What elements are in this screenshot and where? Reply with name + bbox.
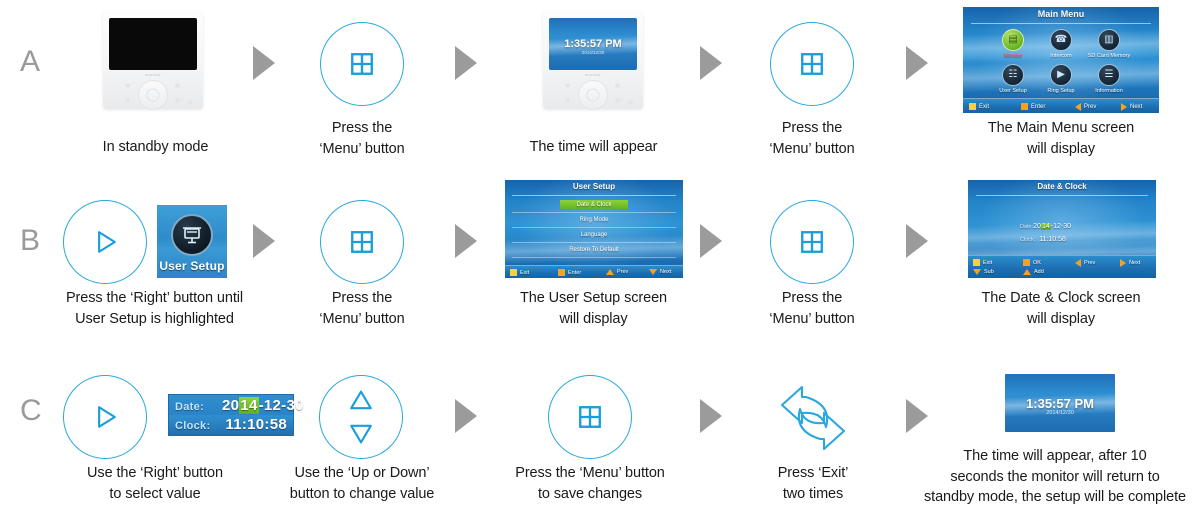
caption-c3: Press the ‘Menu’ button to save changes — [490, 463, 690, 504]
user-setup-row-0-label: Date & Clock — [560, 200, 629, 210]
date-clock-clock-value: 11:10:58 — [1039, 236, 1066, 243]
device-key-1 — [125, 83, 130, 88]
menu-button-a[interactable] — [320, 22, 404, 106]
right-button-b[interactable] — [63, 200, 147, 284]
prev-key-icon — [606, 269, 614, 275]
user-setup-row-date-clock[interactable]: Date & Clock — [512, 198, 676, 213]
user-setup-tile-label: User Setup — [157, 259, 227, 273]
date-clock-clock-row[interactable]: Clock: 11:10:58 — [1020, 236, 1066, 243]
footer-enter[interactable]: Enter — [1021, 103, 1045, 110]
caption-b1-line1: Press the ‘Right’ button until — [47, 288, 262, 309]
user-setup-tile[interactable]: User Setup — [157, 205, 227, 278]
panel-date-row[interactable]: Date:2014-12-30 — [175, 397, 287, 414]
user-setup-title: User Setup — [505, 182, 683, 191]
caption-a4: Press the ‘Menu’ button — [720, 118, 904, 159]
caption-c4-line2: two times — [728, 484, 898, 505]
up-down-button-c[interactable] — [319, 375, 403, 459]
next-key-icon — [1121, 103, 1127, 111]
caption-c5-line3: standby mode, the setup will be complete — [906, 487, 1204, 508]
device-monitor-standby: monitor — [103, 12, 203, 109]
exit-button-c[interactable] — [770, 375, 856, 461]
ring-setup-icon: ▶ — [1050, 64, 1072, 86]
date-clock-date-suffix: -12-30 — [1051, 223, 1071, 230]
caption-c2-line2: button to change value — [272, 484, 452, 505]
user-setup-footer: Exit Enter Prev Next — [505, 265, 683, 278]
caption-a5: The Main Menu screen will display — [960, 118, 1162, 159]
panel-date-label: Date: — [175, 401, 217, 413]
footer-next-label: Next — [1130, 104, 1142, 110]
right-button-c[interactable] — [63, 375, 147, 459]
user-setup-row-restore-default[interactable]: Restore To Default — [512, 243, 676, 258]
caption-a5-line1: The Main Menu screen — [960, 118, 1162, 139]
panel-clock-label: Clock: — [175, 420, 217, 432]
date-clock-clock-label: Clock: — [1020, 237, 1035, 243]
caption-b3: The User Setup screen will display — [496, 288, 691, 329]
ok-key-icon — [1023, 259, 1030, 266]
footer-next[interactable]: Next — [1121, 103, 1142, 111]
device-dpad-2 — [578, 80, 608, 110]
user-setup-icon: ☷ — [1002, 64, 1024, 86]
device-dpad-center — [147, 89, 160, 102]
user-setup-row-language[interactable]: Language — [512, 228, 676, 243]
caption-b3-line1: The User Setup screen — [496, 288, 691, 309]
footer-exit-c[interactable]: Exit — [973, 259, 992, 266]
prev-key-icon — [1075, 259, 1081, 267]
caption-a4-line2: ‘Menu’ button — [720, 139, 904, 160]
caption-a2-line2: ‘Menu’ button — [270, 139, 454, 160]
user-setup-row-3-label: Restore To Default — [569, 247, 619, 253]
next-key-icon — [1120, 259, 1126, 267]
device-key-8 — [615, 83, 620, 88]
caption-b2-line2: ‘Menu’ button — [270, 309, 454, 330]
step-arrow-a4 — [906, 46, 928, 80]
device-key-6 — [565, 83, 570, 88]
triangle-down-icon — [351, 426, 371, 443]
footer-ok-c[interactable]: OK — [1023, 259, 1041, 266]
caption-c1-line1: Use the ‘Right’ button — [60, 463, 250, 484]
enter-key-icon — [1021, 103, 1028, 110]
caption-c2-line1: Use the ‘Up or Down’ — [272, 463, 452, 484]
date-clock-screen: Date & Clock Date:2014-12-30 Clock: 11:1… — [968, 180, 1156, 278]
device-monitor-time: 1:35:57 PM 2014/12/30 monitor — [543, 12, 643, 109]
final-time-screen: 1:35:57 PM 2014/12/30 — [1005, 374, 1115, 432]
dc-footer-1: OK — [1033, 260, 1041, 266]
menu-button-b2[interactable] — [770, 200, 854, 284]
intercom-icon: ☎ — [1050, 29, 1072, 51]
user-setup-row-1-label: Ring Mode — [579, 217, 608, 223]
us-footer-0: Exit — [520, 270, 529, 276]
triangle-right-icon — [64, 201, 146, 283]
device-dpad — [138, 80, 168, 110]
device-key-3 — [175, 83, 180, 88]
device-key-9 — [615, 98, 620, 103]
information-icon: ☰ — [1098, 64, 1120, 86]
footer-next-c[interactable]: Next — [1120, 259, 1140, 267]
footer-sub-c[interactable]: Sub — [973, 269, 994, 275]
caption-b5-line2: will display — [960, 309, 1162, 330]
footer-add-c[interactable]: Add — [1023, 269, 1044, 275]
panel-date-highlight: 14 — [239, 397, 258, 414]
menu-button-b[interactable] — [320, 200, 404, 284]
time-screen-a: 1:35:57 PM 2014/12/30 — [549, 18, 637, 70]
step-arrow-b1 — [253, 224, 275, 258]
footer-prev-b[interactable]: Prev — [606, 269, 628, 275]
caption-a5-line2: will display — [960, 139, 1162, 160]
dc-footer-4: Sub — [984, 269, 994, 275]
dc-footer-0: Exit — [983, 260, 992, 266]
exit-key-icon — [510, 269, 517, 276]
sub-key-icon — [973, 269, 981, 275]
panel-clock-row[interactable]: Clock:11:10:58 — [175, 416, 287, 433]
caption-a2-line1: Press the — [270, 118, 454, 139]
device-screen-off — [109, 18, 197, 70]
main-menu-title: Main Menu — [963, 9, 1159, 19]
menu-button-c[interactable] — [548, 375, 632, 459]
display-monitor-glyph — [180, 223, 204, 247]
date-clock-footer: Exit OK Prev Next Sub Add — [968, 255, 1156, 278]
step-arrow-a3 — [700, 46, 722, 80]
footer-enter-label: Enter — [1031, 104, 1045, 110]
instruction-steps-page: A monitor In standby mode Press the ‘Men… — [0, 0, 1204, 512]
add-key-icon — [1023, 269, 1031, 275]
panel-date-suffix: -12-30 — [259, 397, 304, 414]
menu-grid-icon — [321, 201, 403, 283]
caption-c1-line2: to select value — [60, 484, 250, 505]
time-value-c: 1:35:57 PM — [1005, 396, 1115, 411]
device-key-10 — [628, 100, 633, 105]
menu-grid-icon — [771, 23, 853, 105]
menu-grid-icon — [549, 376, 631, 458]
caption-b1: Press the ‘Right’ button until User Setu… — [47, 288, 262, 329]
row-letter-b: B — [20, 226, 40, 256]
device-key-7 — [565, 98, 570, 103]
time-date-a: 2014/12/30 — [549, 50, 637, 55]
caption-b4: Press the ‘Menu’ button — [720, 288, 904, 329]
caption-c5: The time will appear, after 10 seconds t… — [906, 446, 1204, 508]
enter-key-icon — [558, 269, 565, 276]
step-arrow-a2 — [455, 46, 477, 80]
caption-b4-line1: Press the — [720, 288, 904, 309]
device-screen-time: 1:35:57 PM 2014/12/30 — [549, 18, 637, 70]
caption-b5: The Date & Clock screen will display — [960, 288, 1162, 329]
exit-key-icon — [969, 103, 976, 110]
us-footer-1: Enter — [568, 270, 581, 276]
time-date-c: 2014/12/30 — [1005, 410, 1115, 416]
menu-grid-icon — [321, 23, 403, 105]
dc-footer-5: Add — [1034, 269, 1044, 275]
caption-c5-line1: The time will appear, after 10 — [906, 446, 1204, 467]
main-menu-footer: Exit Enter Prev Next — [963, 98, 1159, 113]
dc-footer-3: Next — [1129, 260, 1140, 266]
display-monitor-icon — [171, 214, 213, 256]
caption-a3: The time will appear — [496, 137, 691, 158]
caption-b2: Press the ‘Menu’ button — [270, 288, 454, 329]
step-arrow-b3 — [700, 224, 722, 258]
footer-exit-b[interactable]: Exit — [510, 269, 529, 276]
us-footer-2: Prev — [617, 269, 628, 275]
footer-exit[interactable]: Exit — [969, 103, 989, 110]
date-clock-date-prefix: 20 — [1033, 223, 1041, 230]
step-arrow-c3 — [906, 399, 928, 433]
device-logo: monitor — [103, 72, 203, 77]
main-menu-screen: Main Menu ▤ Monitor ☎ Intercom ▥ SD Card… — [963, 7, 1159, 113]
monitor-icon: ▤ — [1002, 29, 1024, 51]
exit-swap-arrows-icon — [770, 375, 856, 461]
up-down-triangles-icon — [320, 376, 402, 458]
date-clock-title: Date & Clock — [968, 182, 1156, 191]
triangle-up-icon — [351, 392, 371, 409]
main-menu-item-information[interactable]: ☰ Information — [1081, 64, 1137, 94]
user-setup-screen: User Setup Date & Clock Ring Mode Langua… — [505, 180, 683, 278]
device-key-5 — [188, 100, 193, 105]
menu-grid-icon — [771, 201, 853, 283]
main-menu-item-sd-card-memory[interactable]: ▥ SD Card Memory — [1081, 29, 1137, 59]
user-setup-row-ring-mode[interactable]: Ring Mode — [512, 213, 676, 228]
step-arrow-a1 — [253, 46, 275, 80]
date-clock-value-panel[interactable]: Date:2014-12-30 Clock:11:10:58 — [168, 394, 294, 436]
date-clock-date-highlight: 14 — [1041, 223, 1051, 230]
footer-prev[interactable]: Prev — [1075, 103, 1096, 111]
row-letter-a: A — [20, 47, 40, 77]
prev-key-icon — [1075, 103, 1081, 111]
time-screen-c: 1:35:57 PM 2014/12/30 — [1005, 374, 1115, 432]
caption-b3-line2: will display — [496, 309, 691, 330]
caption-a1: In standby mode — [58, 137, 253, 158]
device-key-2 — [125, 98, 130, 103]
caption-a4-line1: Press the — [720, 118, 904, 139]
date-clock-title-rule — [976, 195, 1149, 196]
panel-date-prefix: 20 — [222, 397, 239, 414]
device-logo-2: monitor — [543, 72, 643, 77]
caption-b2-line1: Press the — [270, 288, 454, 309]
caption-c5-line2: seconds the monitor will return to — [906, 467, 1204, 488]
exit-key-icon — [973, 259, 980, 266]
triangle-right-icon — [64, 376, 146, 458]
caption-a2: Press the ‘Menu’ button — [270, 118, 454, 159]
device-key-4 — [175, 98, 180, 103]
dc-footer-2: Prev — [1084, 260, 1095, 266]
sd-card-icon: ▥ — [1098, 29, 1120, 51]
footer-prev-label: Prev — [1084, 104, 1096, 110]
step-arrow-b4 — [906, 224, 928, 258]
caption-c4-line1: Press ‘Exit’ — [728, 463, 898, 484]
footer-next-b[interactable]: Next — [649, 269, 671, 275]
step-arrow-c1 — [455, 399, 477, 433]
main-menu-title-rule — [971, 23, 1151, 24]
main-menu-label-2: SD Card Memory — [1081, 53, 1137, 59]
date-clock-date-label: Date: — [1020, 224, 1033, 230]
panel-clock-value: 11:10:58 — [222, 416, 287, 433]
next-key-icon — [649, 269, 657, 275]
time-value-a: 1:35:57 PM — [549, 38, 637, 50]
caption-c4: Press ‘Exit’ two times — [728, 463, 898, 504]
footer-exit-label: Exit — [979, 104, 989, 110]
step-arrow-c2 — [700, 399, 722, 433]
user-setup-row-2-label: Language — [581, 232, 608, 238]
device-dpad-center-2 — [587, 89, 600, 102]
us-footer-3: Next — [660, 269, 671, 275]
caption-b1-line2: User Setup is highlighted — [47, 309, 262, 330]
caption-b4-line2: ‘Menu’ button — [720, 309, 904, 330]
row-letter-c: C — [20, 396, 42, 426]
date-clock-date-row[interactable]: Date:2014-12-30 — [1020, 223, 1071, 230]
caption-c1: Use the ‘Right’ button to select value — [60, 463, 250, 504]
step-arrow-b2 — [455, 224, 477, 258]
caption-c3-line1: Press the ‘Menu’ button — [490, 463, 690, 484]
caption-c3-line2: to save changes — [490, 484, 690, 505]
footer-enter-b[interactable]: Enter — [558, 269, 581, 276]
user-setup-title-rule — [512, 195, 676, 196]
footer-prev-c[interactable]: Prev — [1075, 259, 1095, 267]
menu-button-a2[interactable] — [770, 22, 854, 106]
caption-c2: Use the ‘Up or Down’ button to change va… — [272, 463, 452, 504]
caption-b5-line1: The Date & Clock screen — [960, 288, 1162, 309]
main-menu-label-5: Information — [1081, 88, 1137, 94]
